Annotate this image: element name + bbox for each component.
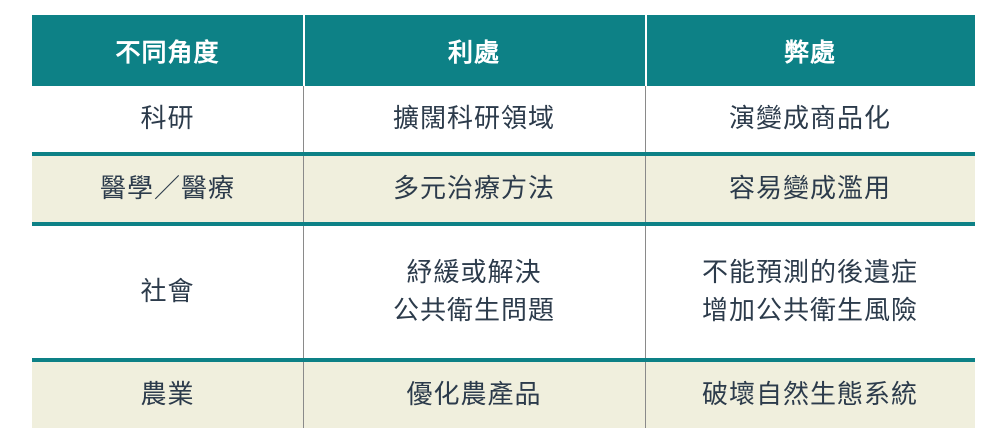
cell-aspect: 科研 <box>32 86 303 154</box>
table-body: 科研 擴闊科研領域 演變成商品化 醫學／醫療 <box>32 86 975 428</box>
comparison-table: 不同角度 利處 弊處 科研 擴闊科研領域 演變成商品化 <box>32 15 975 428</box>
cell-aspect: 醫學／醫療 <box>32 154 303 224</box>
cell-pros: 紓緩或解決 公共衛生問題 <box>303 224 645 360</box>
cell-pros-line: 優化農產品 <box>309 376 639 414</box>
column-header-aspect: 不同角度 <box>32 15 303 86</box>
cell-cons: 演變成商品化 <box>645 86 975 154</box>
cell-cons-line: 增加公共衛生風險 <box>651 292 969 330</box>
cell-pros: 擴闊科研領域 <box>303 86 645 154</box>
cell-aspect: 社會 <box>32 224 303 360</box>
comparison-table-container: 不同角度 利處 弊處 科研 擴闊科研領域 演變成商品化 <box>32 15 975 428</box>
cell-cons-line: 演變成商品化 <box>651 100 969 138</box>
cell-cons-line: 破壞自然生態系統 <box>651 376 969 414</box>
cell-cons: 不能預測的後遺症 增加公共衛生風險 <box>645 224 975 360</box>
cell-pros-line: 擴闊科研領域 <box>309 100 639 138</box>
cell-pros-line: 多元治療方法 <box>309 170 639 208</box>
cell-pros-line: 公共衛生問題 <box>309 292 639 330</box>
column-header-cons: 弊處 <box>645 15 975 86</box>
cell-aspect: 農業 <box>32 360 303 428</box>
table-row: 農業 優化農產品 破壞自然生態系統 <box>32 360 975 428</box>
cell-pros-line: 紓緩或解決 <box>309 254 639 292</box>
cell-cons-line: 容易變成濫用 <box>651 170 969 208</box>
cell-pros: 優化農產品 <box>303 360 645 428</box>
cell-cons: 容易變成濫用 <box>645 154 975 224</box>
table-row: 社會 紓緩或解決 公共衛生問題 不能預測的後遺症 增加公共衛生風險 <box>32 224 975 360</box>
cell-cons: 破壞自然生態系統 <box>645 360 975 428</box>
table-row: 醫學／醫療 多元治療方法 容易變成濫用 <box>32 154 975 224</box>
column-header-pros: 利處 <box>303 15 645 86</box>
header-row: 不同角度 利處 弊處 <box>32 15 975 86</box>
table-row: 科研 擴闊科研領域 演變成商品化 <box>32 86 975 154</box>
cell-pros: 多元治療方法 <box>303 154 645 224</box>
cell-cons-line: 不能預測的後遺症 <box>651 254 969 292</box>
table-header: 不同角度 利處 弊處 <box>32 15 975 86</box>
page-root: 不同角度 利處 弊處 科研 擴闊科研領域 演變成商品化 <box>0 0 1000 448</box>
